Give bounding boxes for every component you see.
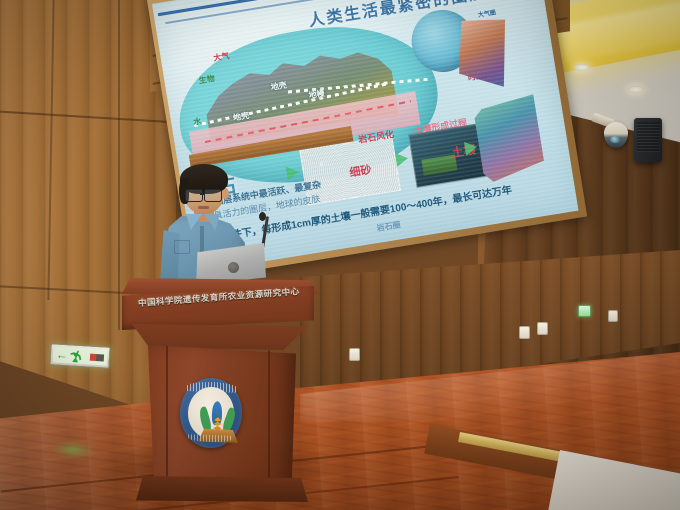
emblem-english-text-arc <box>188 434 232 443</box>
institute-emblem <box>179 377 243 449</box>
podium-seam <box>268 350 270 486</box>
camera-lens-icon <box>610 136 621 143</box>
wall-socket[interactable] <box>608 310 618 322</box>
exit-sign-face: ← <box>53 346 108 365</box>
shirt-pocket <box>174 240 190 254</box>
hp-logo-icon <box>228 262 239 273</box>
label-hydrosphere: 水 <box>193 116 203 128</box>
emblem-inner-disc <box>187 386 235 440</box>
running-man-icon <box>70 349 85 363</box>
wall-switch-green[interactable] <box>578 305 591 317</box>
emblem-sprout-icon <box>212 401 223 425</box>
wall-socket[interactable] <box>519 326 530 339</box>
emergency-exit-sign: ← <box>49 343 110 369</box>
podium-base <box>136 476 308 502</box>
glasses-icon <box>204 189 222 202</box>
wall-socket[interactable] <box>349 348 360 361</box>
label-rock-sphere: 岩石圈 <box>376 219 401 234</box>
exit-sign-floor-reflection <box>52 441 95 459</box>
left-arrow-icon: ← <box>56 349 69 362</box>
podium: 中国科学院遗传发育所农业资源研究中心 <box>118 278 318 510</box>
downlight-icon <box>574 64 590 71</box>
glasses-bridge <box>200 193 205 195</box>
podium-seam <box>166 346 168 484</box>
microphone-head-icon <box>259 212 266 221</box>
downlight-icon <box>628 86 644 93</box>
speaker-grill <box>637 122 659 152</box>
exit-sign-text-block <box>90 353 104 361</box>
wall-socket[interactable] <box>537 322 548 335</box>
label-atmos-circle: 大气圈 <box>477 7 496 19</box>
auditorium-photo: 人类生活最紧密的圈层 大气 生物 水 地壳 地幔 地壳 岩石 岩石风化 土壤形成… <box>0 0 680 510</box>
flow-arrow-icon <box>286 165 300 181</box>
glasses-icon <box>185 189 203 202</box>
presenter-mouth <box>198 206 209 209</box>
